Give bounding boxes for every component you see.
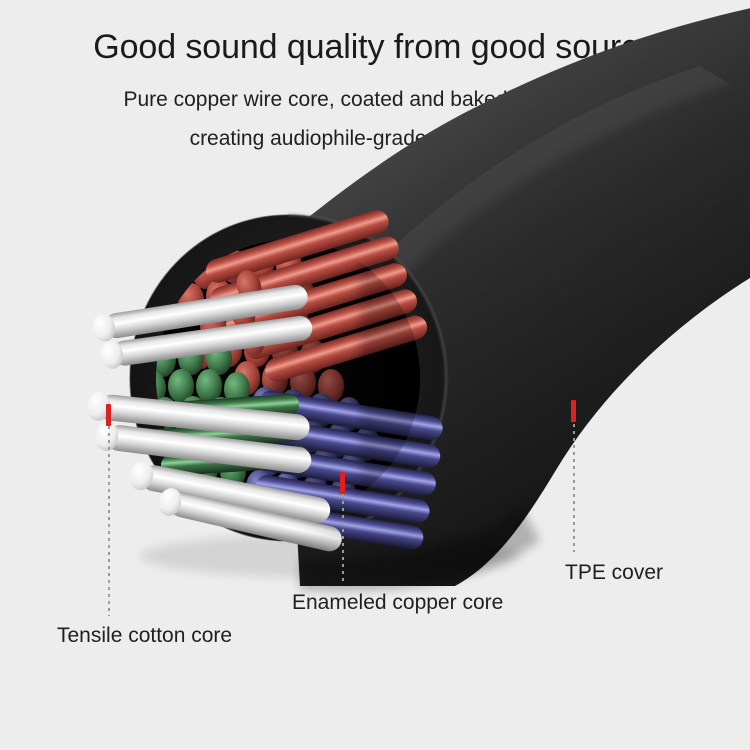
callout-label-enameled-copper-core: Enameled copper core bbox=[292, 591, 503, 615]
callout-tick-marker bbox=[106, 404, 111, 426]
product-feature-image: Good sound quality from good source Pure… bbox=[0, 0, 750, 750]
cotton-core-rods bbox=[86, 282, 345, 556]
callout-label-tpe-cover: TPE cover bbox=[565, 561, 663, 585]
callout-tick-marker bbox=[340, 472, 345, 494]
callout-leader-line bbox=[342, 494, 344, 582]
cable-drop-shadow bbox=[140, 534, 520, 578]
callout-leader-line bbox=[108, 426, 110, 616]
callout-leader-line bbox=[573, 424, 575, 552]
callout-tick-marker bbox=[571, 400, 576, 422]
callout-label-tensile-cotton-core: Tensile cotton core bbox=[57, 624, 232, 648]
